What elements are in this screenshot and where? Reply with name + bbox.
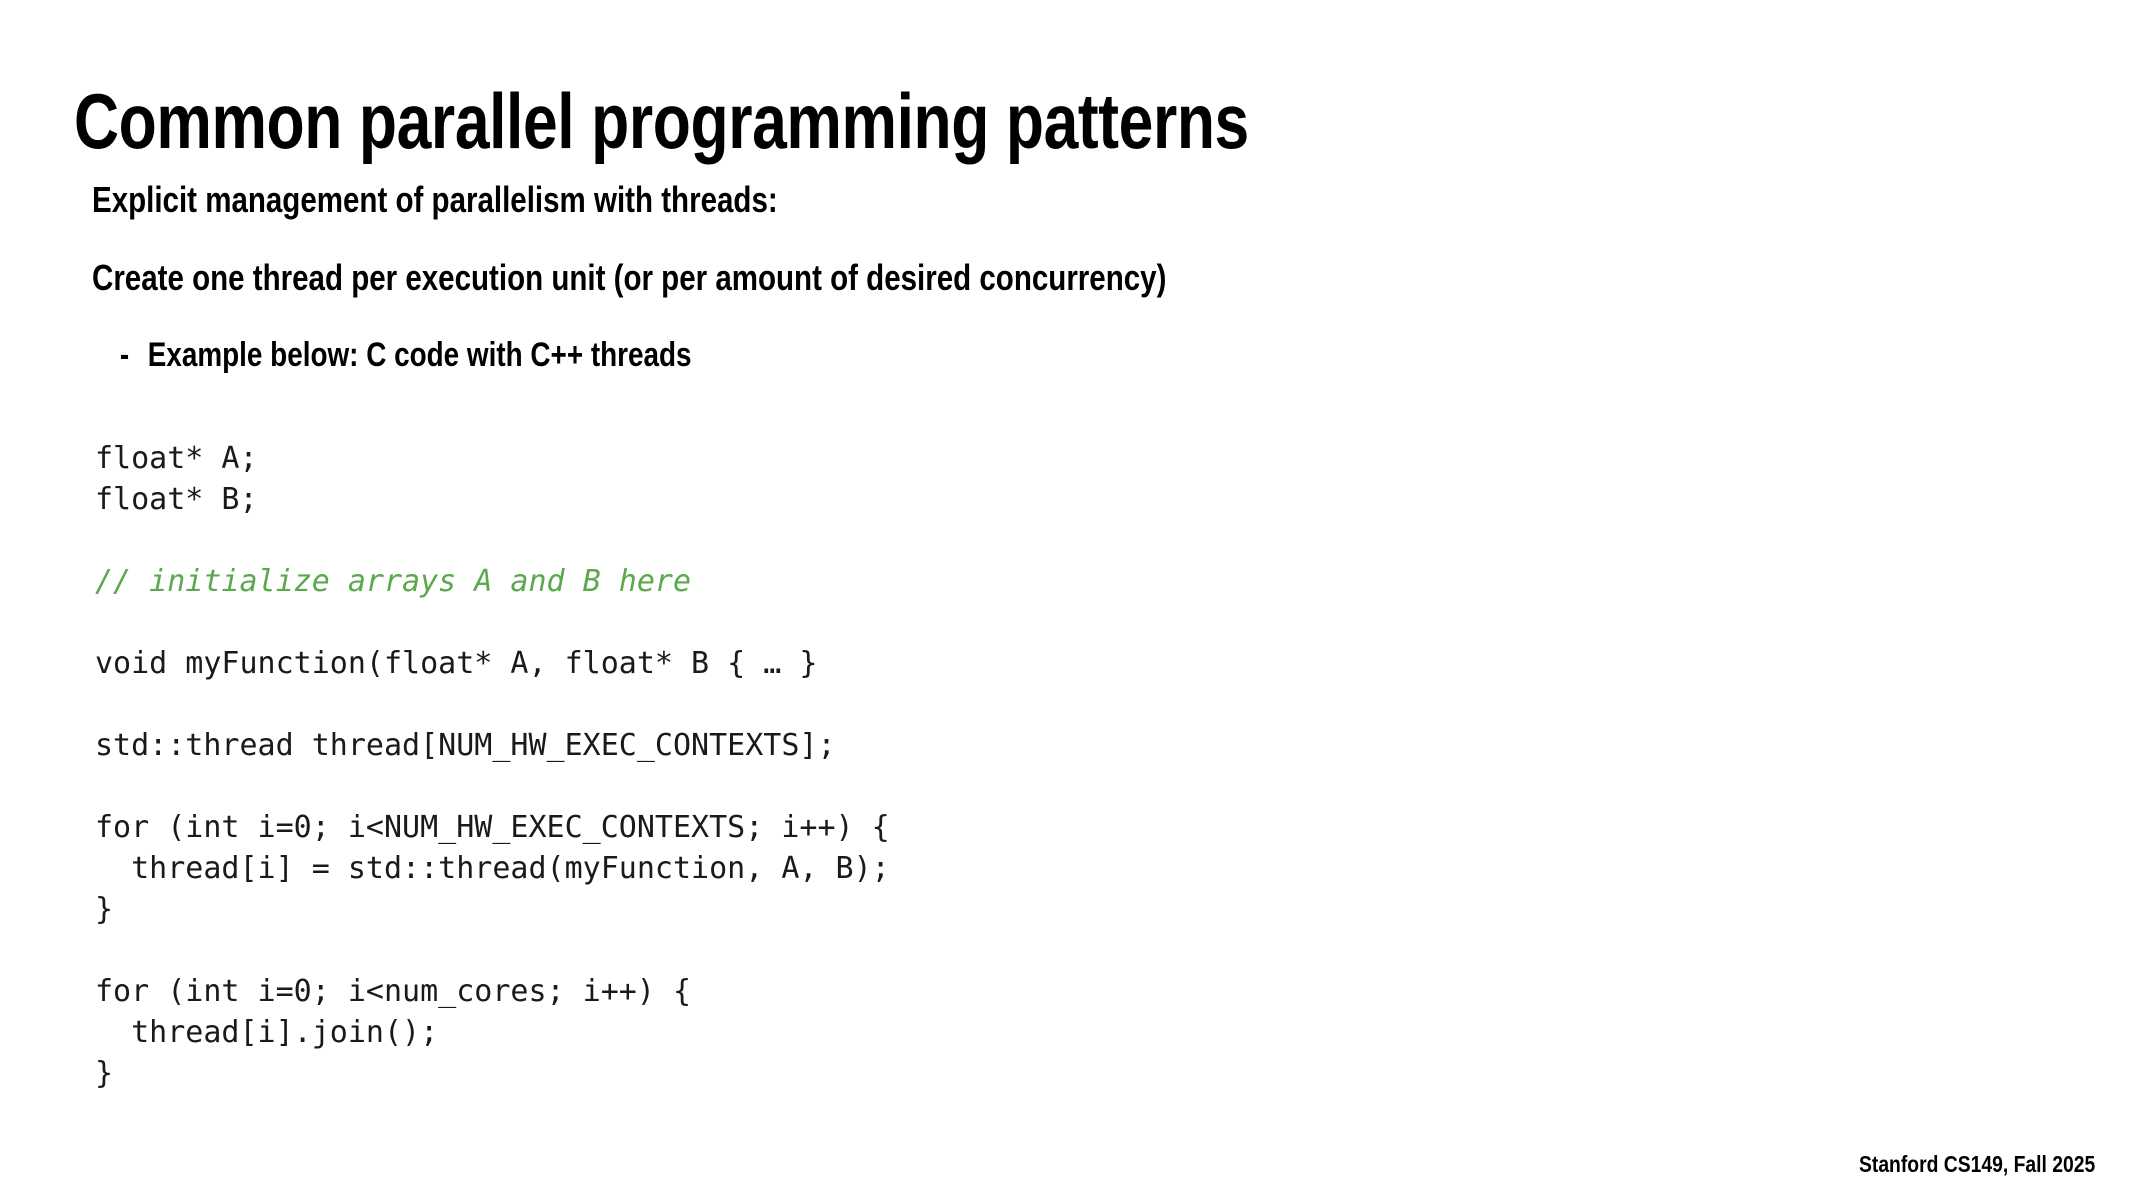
bullet-item-example-below: -Example below: C code with C++ threads: [92, 334, 1650, 376]
code-line-blank: [95, 766, 890, 807]
bullet-item-create-one-thread: Create one thread per execution unit (or…: [92, 256, 1650, 300]
code-line-blank: [95, 684, 890, 725]
code-line: float* B;: [95, 479, 890, 520]
code-line: for (int i=0; i<num_cores; i++) {: [95, 971, 890, 1012]
dash-marker-icon: -: [120, 334, 148, 376]
code-line: thread[i].join();: [95, 1012, 890, 1053]
page-title: Common parallel programming patterns: [74, 74, 1249, 168]
code-line: }: [95, 1053, 890, 1094]
code-line-blank: [95, 602, 890, 643]
code-line: void myFunction(float* A, float* B { … }: [95, 643, 890, 684]
code-line: float* A;: [95, 438, 890, 479]
code-line: thread[i] = std::thread(myFunction, A, B…: [95, 848, 890, 889]
code-line: }: [95, 889, 890, 930]
code-line: std::thread thread[NUM_HW_EXEC_CONTEXTS]…: [95, 725, 890, 766]
bullet-text: Example below: C code with C++ threads: [148, 336, 692, 374]
slide-footer: Stanford CS149, Fall 2025: [1859, 1150, 2095, 1178]
code-line-blank: [95, 520, 890, 561]
code-line-blank: [95, 930, 890, 971]
bullet-item-explicit-management: Explicit management of parallelism with …: [92, 178, 1650, 222]
slide-canvas: Common parallel programming patterns Exp…: [0, 0, 2133, 1200]
bullet-text: Create one thread per execution unit (or…: [92, 257, 1166, 298]
bullet-list: Explicit management of parallelism with …: [92, 178, 1992, 376]
code-sample: float* A;float* B;// initialize arrays A…: [95, 438, 890, 1094]
code-line: for (int i=0; i<NUM_HW_EXEC_CONTEXTS; i+…: [95, 807, 890, 848]
bullet-text: Explicit management of parallelism with …: [92, 179, 778, 220]
code-line-comment: // initialize arrays A and B here: [95, 561, 890, 602]
